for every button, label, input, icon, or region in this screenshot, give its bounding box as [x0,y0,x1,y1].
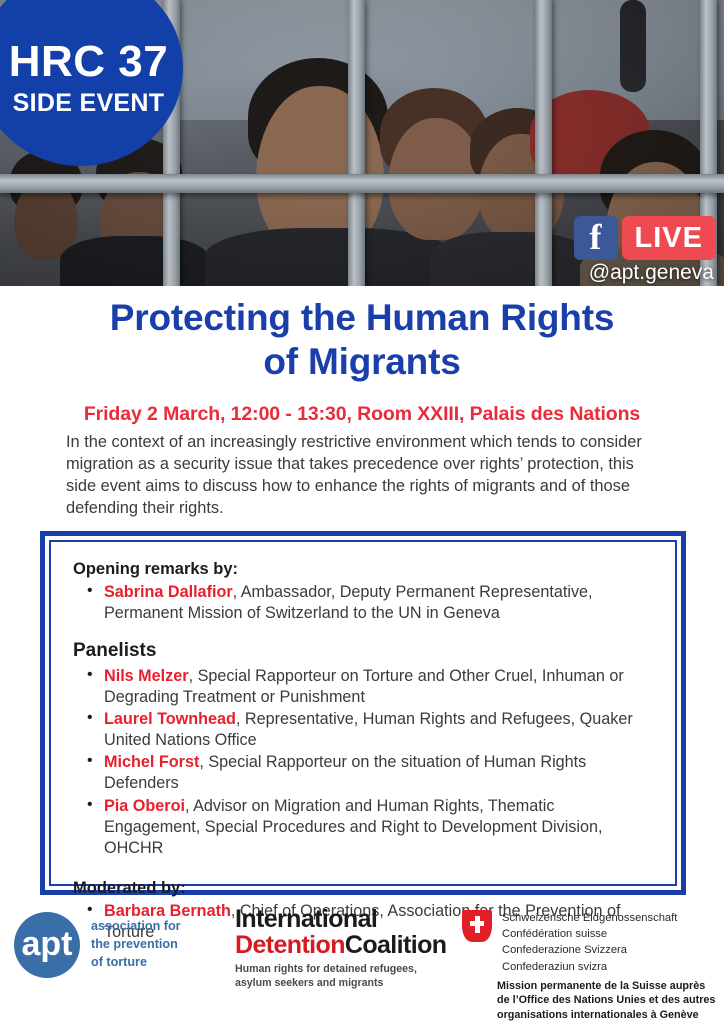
list-item: Michel Forst, Special Rapporteur on the … [87,752,655,794]
speaker-name: Pia Oberoi [104,797,185,815]
opening-remarks-heading: Opening remarks by: [73,560,655,579]
opening-remarks-list: Sabrina Dallafior, Ambassador, Deputy Pe… [87,582,655,624]
apt-tagline-line-2: the prevention [91,936,181,954]
live-label: LIVE [622,216,716,260]
list-item: Laurel Townhead, Representative, Human R… [87,709,655,751]
swiss-confederation-logo: Schweizerische Eidgenossenschaft Confédé… [462,910,677,975]
event-poster: HRC 37 SIDE EVENT f LIVE @apt.geneva Pro… [0,0,724,1024]
moderated-by-heading: Moderated by: [73,879,655,898]
idc-logo: International DetentionCoalition Human r… [235,906,446,991]
idc-word-international: International [235,906,446,932]
event-datetime-location: Friday 2 March, 12:00 - 13:30, Room XXII… [0,403,724,426]
facebook-live-row: f LIVE [574,216,716,260]
apt-logo: apt association for the prevention of to… [14,912,181,978]
page-title-line-1: Protecting the Human Rights [0,296,724,340]
swiss-permanent-mission-text: Mission permanente de la Suisse auprès d… [497,979,722,1022]
apt-tagline-line-3: of torture [91,954,181,972]
idc-tagline: Human rights for detained refugees, asyl… [235,962,446,991]
swiss-name-it: Confederazione Svizzera [502,942,677,958]
facebook-icon[interactable]: f [574,216,618,260]
swiss-name-de: Schweizerische Eidgenossenschaft [502,910,677,926]
speaker-name: Laurel Townhead [104,710,236,728]
swiss-mission-line-3: organisations internationales à Genève [497,1008,722,1022]
idc-word-detention: Detention [235,931,345,959]
swiss-name-fr: Confédération suisse [502,926,677,942]
idc-tagline-line-2: asylum seekers and migrants [235,976,446,990]
page-title-line-2: of Migrants [0,340,724,384]
speaker-name: Sabrina Dallafior [104,583,233,601]
swiss-name-rm: Confederaziun svizra [502,959,677,975]
apt-tagline-line-1: association for [91,918,181,936]
swiss-mission-line-2: de l’Office des Nations Unies et des aut… [497,993,722,1007]
panelists-heading: Panelists [73,640,655,662]
speaker-name: Nils Melzer [104,667,189,685]
panelists-list: Nils Melzer, Special Rapporteur on Tortu… [87,666,655,859]
swiss-mission-line-1: Mission permanente de la Suisse auprès [497,979,722,993]
apt-mark-icon: apt [14,912,80,978]
idc-tagline-line-1: Human rights for detained refugees, [235,962,446,976]
facebook-live-badge[interactable]: f LIVE @apt.geneva [574,216,716,285]
jail-bar-horizontal [0,174,724,193]
list-item: Pia Oberoi, Advisor on Migration and Hum… [87,796,655,859]
list-item: Sabrina Dallafior, Ambassador, Deputy Pe… [87,582,655,624]
swiss-confederation-names: Schweizerische Eidgenossenschaft Confédé… [502,910,677,975]
page-title: Protecting the Human Rights of Migrants [0,296,724,383]
programme-box-inner: Opening remarks by: Sabrina Dallafior, A… [49,540,677,886]
jail-bar-vertical [535,0,552,286]
jail-bar-vertical [348,0,365,286]
swiss-cross-icon [462,910,492,942]
facebook-handle: @apt.geneva [589,261,714,285]
idc-word-coalition: Coalition [345,931,447,959]
programme-box: Opening remarks by: Sabrina Dallafior, A… [40,531,686,895]
hrc-badge-title: HRC 37 [9,40,169,84]
idc-wordmark: DetentionCoalition [235,932,446,958]
event-description: In the context of an increasingly restri… [66,431,660,520]
apt-tagline: association for the prevention of tortur… [91,918,181,972]
hrc-badge-subtitle: SIDE EVENT [13,90,165,118]
hero-photo-migrants-behind-bars: HRC 37 SIDE EVENT f LIVE @apt.geneva [0,0,724,286]
list-item: Nils Melzer, Special Rapporteur on Tortu… [87,666,655,708]
speaker-name: Michel Forst [104,753,199,771]
